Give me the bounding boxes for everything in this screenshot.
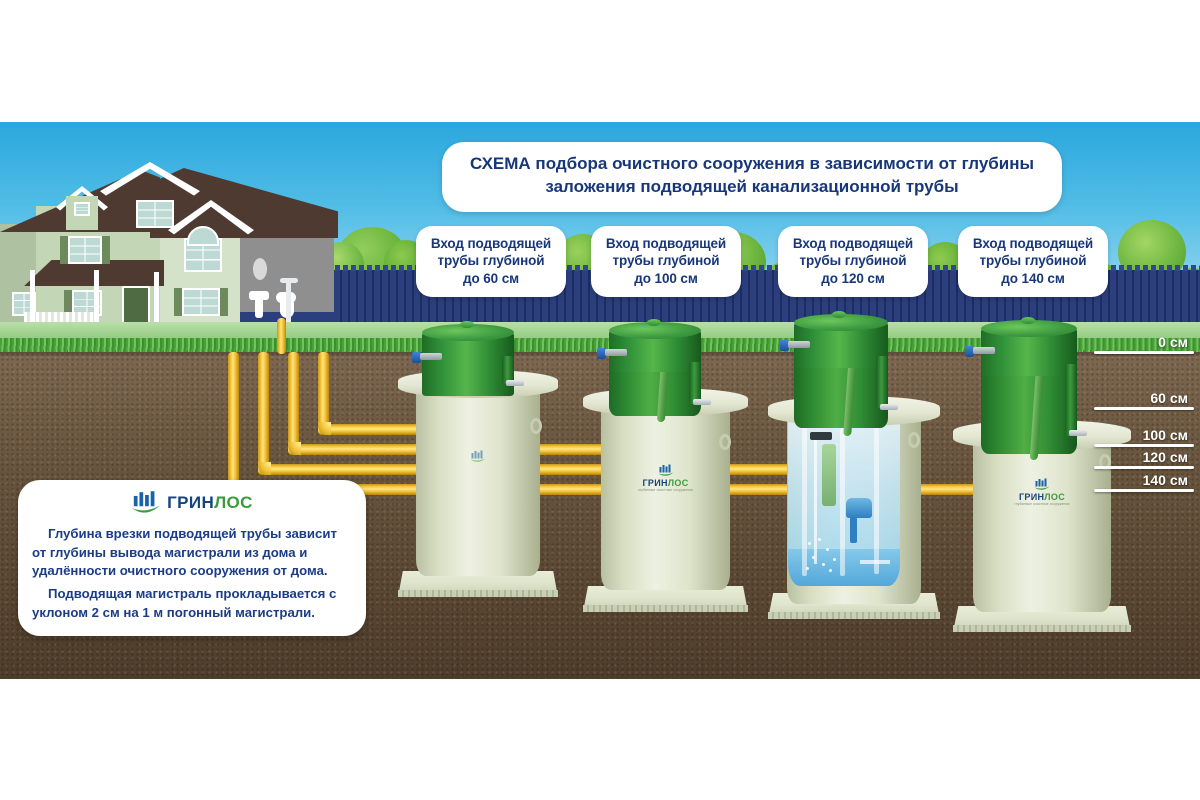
depth-marker-60: 60 см [1094,390,1194,410]
info-paragraph-1: Глубина врезки подводящей трубы зависит … [32,525,352,581]
depth-label: 140 см [1094,472,1194,488]
depth-label: 60 см [1094,390,1194,406]
porch-post [30,270,35,330]
callout-line-3: до 60 см [426,270,556,287]
info-paragraph-2: Подводящая магистраль прокладывается с у… [32,585,352,622]
depth-label: 100 см [1094,427,1194,443]
illustration-canvas: ГРИНЛОС глубинные очистные сооружения [0,122,1200,679]
house-outlet-riser [277,318,286,354]
sink-pedestal [255,298,263,318]
title-line-1: СХЕМА подбора очистного сооружения в зав… [468,153,1036,176]
callout-140: Вход подводящей трубы глубиной до 140 см [958,226,1108,297]
callout-line-3: до 120 см [788,270,918,287]
lifting-ear [908,432,920,448]
inlet-fitting [788,341,810,348]
lid-knob[interactable] [460,321,474,328]
info-box: ГРИНЛОС Глубина врезки подводящей трубы … [18,480,366,636]
inlet-fitting [420,353,442,360]
unit-logo [398,450,558,464]
callout-line-1: Вход подводящей [968,235,1098,252]
supply-pipe-vertical-3 [258,352,269,474]
treatment-unit-2[interactable]: ГРИНЛОС глубинные очистные сооружения [583,322,748,612]
unit-body [973,432,1112,612]
house-window [182,288,220,316]
unit-cutaway-interior [788,418,900,586]
brand-logo: ГРИНЛОС [32,490,352,520]
lifting-ear [530,418,542,434]
slab-teeth [398,590,558,597]
lifting-ear [719,434,731,450]
callout-line-1: Вход подводящей [788,235,918,252]
callout-line-2: трубы глубиной [788,252,918,269]
callout-line-1: Вход подводящей [426,235,556,252]
depth-line [1094,351,1194,354]
depth-label: 0 см [1094,334,1194,350]
lid-knob[interactable] [647,319,661,326]
unit-body [601,398,730,590]
interior-column [874,428,879,574]
treatment-unit-1[interactable] [398,322,558,597]
brand-mark-icon [1034,478,1050,491]
window-shutter [174,288,182,316]
supply-pipe-vertical-2 [288,352,299,454]
unit-logo-subtitle: глубинные очистные сооружения [583,488,748,492]
window-shutter [220,288,228,316]
outlet-pipe [880,404,898,410]
unit-logo-text: ГРИНЛОС [953,492,1131,502]
title-line-2: заложения подводящей канализационной тру… [468,176,1036,199]
unit-logo-subtitle: глубинные очистные сооружения [953,502,1131,506]
slab-teeth [583,605,748,612]
depth-marker-140: 140 см [1094,472,1194,492]
outlet-pipe [506,380,524,386]
house-window [68,236,102,264]
vent-pipe [689,362,701,404]
brand-mark-icon [658,464,674,477]
callout-100: Вход подводящей трубы глубиной до 100 см [591,226,741,297]
window-shutter [102,236,110,264]
unit-logo: ГРИНЛОС глубинные очистные сооружения [583,464,748,492]
lid-knob[interactable] [832,311,846,318]
aeration-bubbles [804,536,844,576]
unit-body [416,380,541,576]
callout-line-2: трубы глубиной [968,252,1098,269]
supply-pipe-vertical-4 [228,352,239,494]
window-shutter [60,236,68,264]
brand-logo-text: ГРИНЛОС [167,493,253,513]
callout-line-3: до 140 см [968,270,1098,287]
outlet-pipe [693,399,711,405]
callout-line-2: трубы глубиной [426,252,556,269]
control-module [810,432,832,440]
standpipe-top [280,278,298,283]
slab-teeth [768,612,940,619]
depth-marker-120: 120 см [1094,449,1194,469]
callout-120: Вход подводящей трубы глубиной до 120 см [778,226,928,297]
porch-post [94,270,99,330]
depth-line [1094,466,1194,469]
depth-line [1094,407,1194,410]
treatment-unit-3[interactable] [768,314,940,619]
callout-line-2: трубы глубиной [601,252,731,269]
depth-marker-0: 0 см [1094,334,1194,354]
depth-line [1094,489,1194,492]
depth-marker-100: 100 см [1094,427,1194,447]
infographic-page: ГРИНЛОС глубинные очистные сооружения [0,0,1200,800]
callout-line-3: до 100 см [601,270,731,287]
inlet-fitting [973,347,995,354]
vent-pipe [876,356,888,408]
dormer-window [74,202,90,216]
pump-nozzle [850,517,857,543]
outlet-weir [860,560,890,564]
brand-mark-icon [470,450,486,463]
depth-label: 120 см [1094,449,1194,465]
callout-line-1: Вход подводящей [601,235,731,252]
depth-line [1094,444,1194,447]
house-window [136,200,174,228]
lid-knob[interactable] [1021,317,1035,324]
slab-teeth [953,625,1131,632]
brand-mark-icon [131,490,161,515]
filter-media [822,444,836,506]
diagram-title: СХЕМА подбора очистного сооружения в зав… [442,142,1062,212]
airlift-pump [846,498,872,518]
inlet-fitting [605,349,627,356]
unit-logo-text: ГРИНЛОС [583,478,748,488]
outlet-pipe [1069,430,1087,436]
vent-pipe [1065,364,1077,436]
callout-60: Вход подводящей трубы глубиной до 60 см [416,226,566,297]
mirror-icon [253,258,267,280]
